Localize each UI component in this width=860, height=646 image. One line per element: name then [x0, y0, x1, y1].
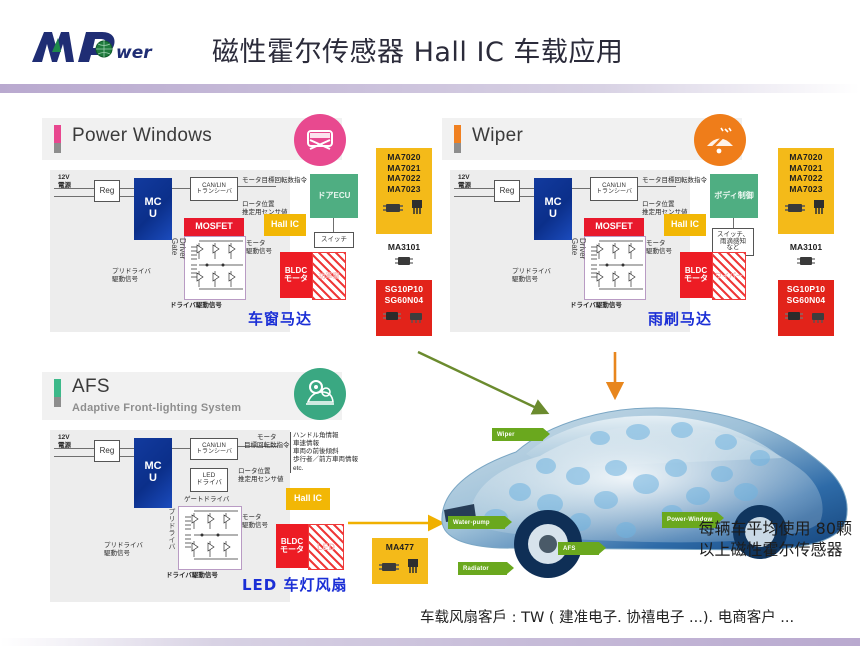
car-tag-water-pump: Water-pump	[448, 516, 505, 529]
accent-bar	[54, 125, 61, 153]
motor-command-label: モータ目標回転数指令	[242, 177, 307, 185]
driver-signal-label: ドライバ駆動信号	[170, 302, 222, 310]
wiper-icon	[694, 114, 746, 166]
chip-pn: MA3101	[781, 242, 831, 252]
footer-caption: 车载风扇客戶 : TW ( 建准电子. 协禧电子 ...). 电商客户 ...	[420, 606, 794, 627]
bldc-block: BLDC モータ	[276, 524, 308, 568]
chip-group-yellow[interactable]: MA7020 MA7021 MA7022 MA7023	[778, 148, 834, 234]
package-icon	[797, 254, 815, 268]
load-hatch: ワイパー	[712, 252, 746, 300]
chip-pn: SG10P10	[781, 284, 831, 295]
panel-title-afs: AFS	[72, 376, 110, 398]
svg-text:wer: wer	[116, 43, 153, 63]
car-window-icon	[294, 114, 346, 166]
chip-pn: MA7023	[781, 184, 831, 195]
package-icons	[379, 307, 429, 328]
mosfet-block: MOSFET	[584, 218, 644, 236]
pre-driver-label: プリドライバ 駆動信号	[112, 268, 151, 284]
mcu-block: MCU	[134, 438, 172, 508]
chip-pn: MA7022	[379, 173, 429, 184]
mcu-label: MCU	[144, 197, 162, 220]
panel-title-power-windows: Power Windows	[72, 125, 212, 147]
chip-column-power-windows: MA7020 MA7021 MA7022 MA7023 MA3101 SG10P…	[376, 148, 434, 348]
driver-signal-label: ドライバ駆動信号	[166, 572, 218, 580]
gate-driver-label-2: Driver	[178, 238, 187, 259]
header-divider	[0, 84, 860, 93]
bldc-block: BLDC モータ	[680, 252, 712, 298]
motor-drive-label: モータ 駆動信号	[646, 240, 672, 256]
chip-pn: SG60N04	[781, 295, 831, 306]
motor-drive-label: モータ 駆動信号	[242, 514, 268, 530]
package-icons	[375, 556, 425, 579]
bldc-block: BLDC モータ	[280, 252, 312, 298]
bldc-label: BLDC モータ	[284, 267, 308, 284]
bridge-circuit	[184, 236, 246, 300]
gate-driver-label-2: Driver	[578, 238, 587, 259]
mcu-block: MCU	[134, 178, 172, 240]
chip-column-wiper: MA7020 MA7021 MA7022 MA7023 MA3101 SG10P…	[778, 148, 836, 348]
motor-command-label: モータ 目標回転数指令	[244, 434, 290, 450]
car-note-line1: 每辆车平均使用 80颗	[699, 518, 852, 540]
package-icon	[395, 254, 413, 268]
cn-label-afs: LED 车灯风扇	[242, 574, 347, 595]
car-note-line2: 以上磁性霍尔传感器	[699, 539, 852, 561]
accent-bar	[54, 379, 61, 407]
page-title: 磁性霍尔传感器 Hall IC 车载应用	[212, 30, 623, 69]
ecu-block: ドアECU	[310, 174, 358, 218]
bridge-circuit	[584, 236, 646, 300]
panel-title-wiper: Wiper	[472, 125, 523, 147]
vehicle-info-list: ハンドル角情報 車速情報 車両の前後傾斜 歩行者／前方車両情報 etc.	[290, 432, 358, 473]
hall-ic-block: Hall IC	[286, 488, 330, 510]
mosfet-block: MOSFET	[184, 218, 244, 236]
chip-pn: MA7020	[781, 152, 831, 163]
bldc-label: BLDC モータ	[684, 267, 708, 284]
chip-column-afs: MA477	[372, 538, 430, 598]
pre-driver-label: プリドライバ 駆動信号	[512, 268, 551, 284]
chip-pn: SG10P10	[379, 284, 429, 295]
rotor-position-label: ロータ位置 推定用センサ値	[238, 468, 284, 484]
package-icons	[781, 197, 831, 220]
chip-pn: MA3101	[379, 242, 429, 252]
can-transceiver-block: CAN/LIN トランシーバ	[590, 177, 638, 201]
load-hatch: LED	[308, 524, 344, 570]
chip-group-red[interactable]: SG10P10 SG60N04	[376, 280, 432, 336]
gate-driver-label: ゲートドライバ	[184, 496, 229, 504]
chip-group-red[interactable]: SG10P10 SG60N04	[778, 280, 834, 336]
mpower-logo: wer	[28, 26, 188, 70]
pre-driver-vertical-label: プリドライバ	[166, 508, 176, 550]
package-icons	[379, 197, 429, 220]
chip-group-yellow[interactable]: MA477	[372, 538, 428, 584]
page-header: wer 磁性霍尔传感器 Hall IC 车载应用	[0, 0, 860, 86]
motor-command-label: モータ目標回転数指令	[642, 177, 707, 185]
bridge-circuit	[178, 506, 242, 570]
chip-pn: MA477	[375, 542, 425, 553]
panel-subtitle-afs: Adaptive Front-lighting System	[72, 402, 241, 414]
panel-afs[interactable]: AFS Adaptive Front-lighting System 12V 電…	[42, 372, 342, 617]
reg-block: Reg	[94, 180, 120, 202]
chip-group-white[interactable]: MA3101	[778, 238, 834, 278]
driver-signal-label: ドライバ駆動信号	[570, 302, 622, 310]
can-transceiver-block: CAN/LIN トランシーバ	[190, 438, 238, 460]
chip-pn: SG60N04	[379, 295, 429, 306]
chip-pn: MA7021	[781, 163, 831, 174]
footer-divider	[0, 638, 860, 646]
package-icons	[781, 307, 831, 328]
switch-block: スイッチ	[314, 232, 354, 248]
cn-label-wiper: 雨刷马达	[648, 308, 712, 329]
car-note: 每辆车平均使用 80颗 以上磁性霍尔传感器	[699, 518, 852, 561]
ecu-block: ボディ制御	[710, 174, 758, 218]
headlamp-gear-icon	[294, 368, 346, 420]
panel-power-windows[interactable]: Power Windows 12V 電源 Reg MCU CAN/LIN トラン…	[42, 118, 342, 348]
bldc-label: BLDC モータ	[280, 538, 304, 555]
chip-pn: MA7022	[781, 173, 831, 184]
hall-ic-block: Hall IC	[664, 214, 706, 236]
led-driver-block: LED ドライバ	[190, 468, 228, 492]
panel-wiper[interactable]: Wiper 12V 電源 Reg MCU CAN/LIN トランシーバ モータ目…	[442, 118, 742, 348]
chip-pn: MA7021	[379, 163, 429, 174]
mcu-block: MCU	[534, 178, 572, 240]
reg-block: Reg	[94, 440, 120, 462]
chip-pn: MA7023	[379, 184, 429, 195]
car-tag-wiper: Wiper	[492, 428, 543, 441]
chip-pn: MA7020	[379, 152, 429, 163]
accent-bar	[454, 125, 461, 153]
chip-group-yellow[interactable]: MA7020 MA7021 MA7022 MA7023	[376, 148, 432, 234]
car-tag-radiator: Radiator	[458, 562, 507, 575]
chip-group-white[interactable]: MA3101	[376, 238, 432, 278]
hall-ic-block: Hall IC	[264, 214, 306, 236]
can-transceiver-block: CAN/LIN トランシーバ	[190, 177, 238, 201]
pre-driver-label: プリドライバ 駆動信号	[104, 542, 143, 558]
motor-drive-label: モータ 駆動信号	[246, 240, 272, 256]
cn-label-power-windows: 车窗马达	[248, 308, 312, 329]
mcu-label: MCU	[544, 197, 562, 220]
car-tag-afs: AFS	[558, 542, 599, 555]
load-hatch: 功率窗	[312, 252, 346, 300]
mcu-label: MCU	[144, 461, 162, 484]
car-illustration: Wiper Power-Window Water-pump AFS Radiat…	[430, 372, 860, 587]
reg-block: Reg	[494, 180, 520, 202]
